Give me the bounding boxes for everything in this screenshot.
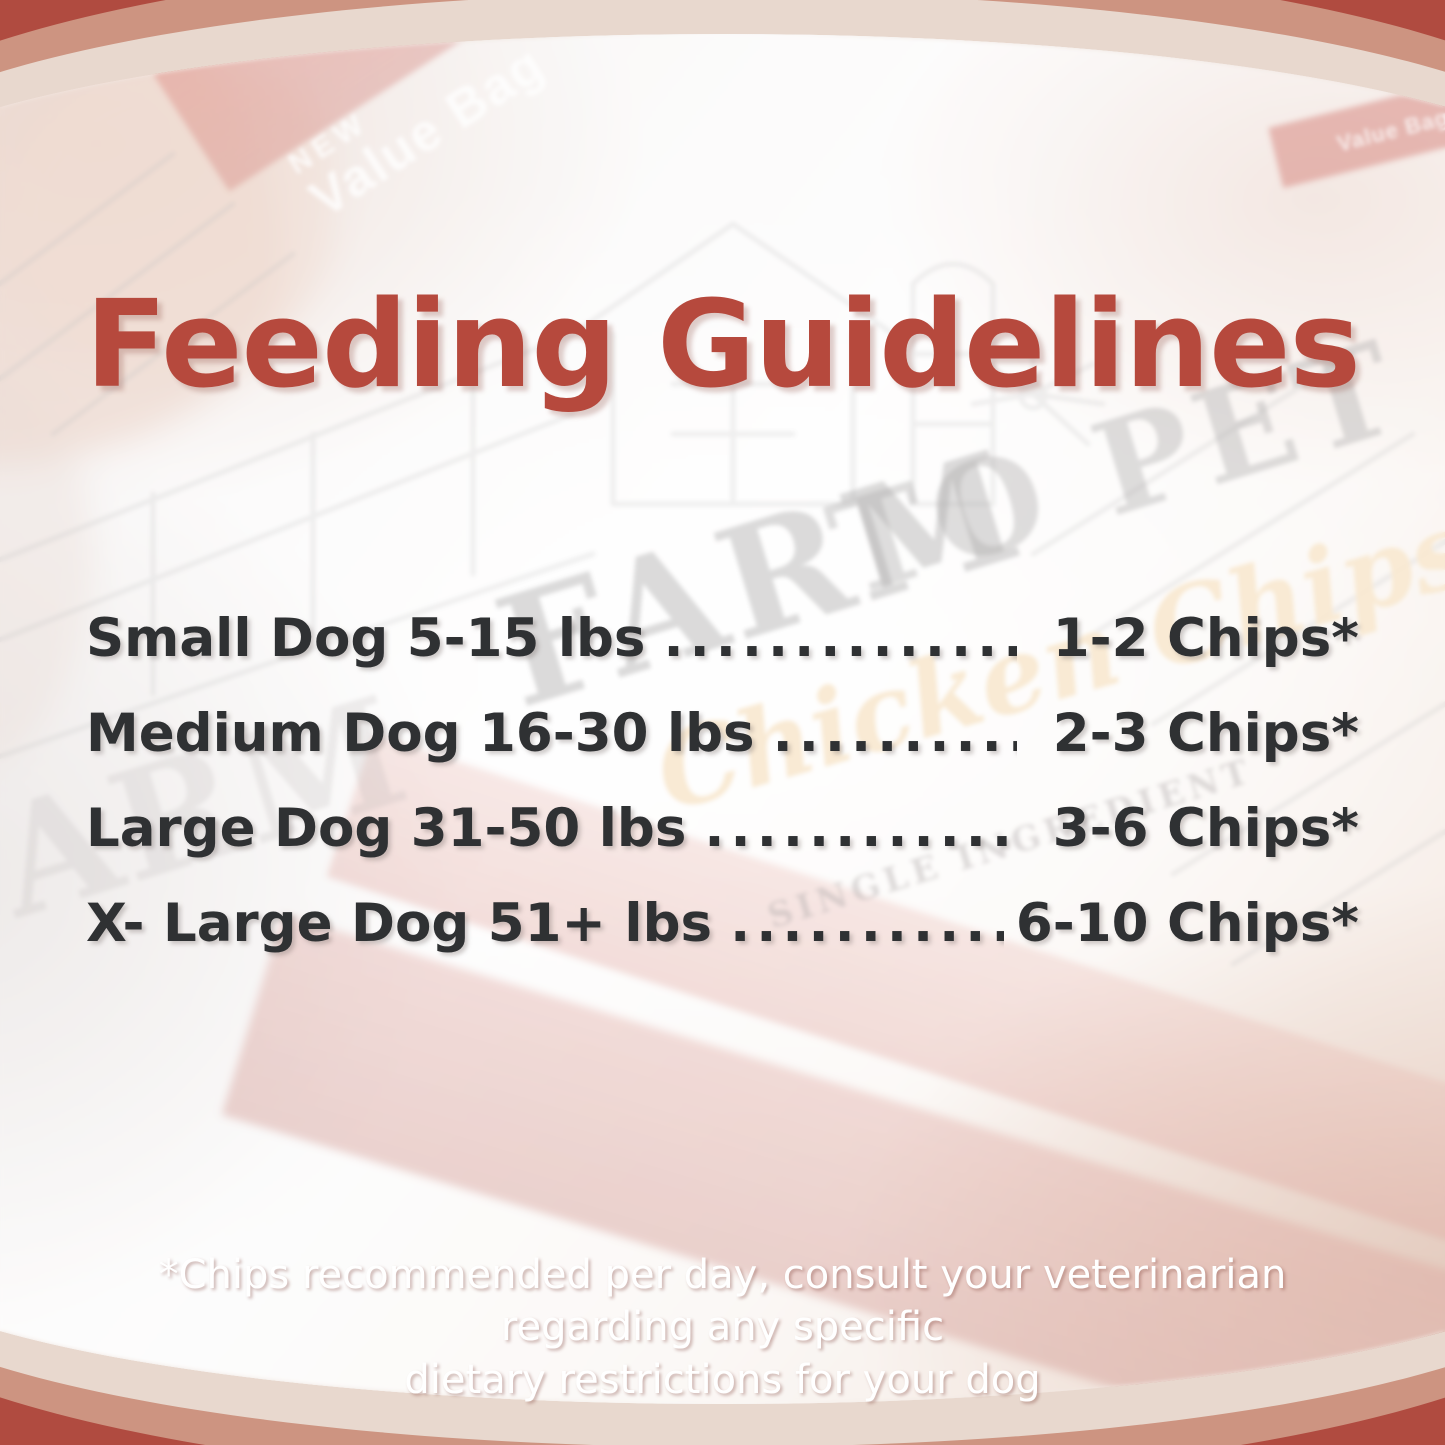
row-value-medium-dog: 2-3 Chips* <box>1029 703 1359 764</box>
poster-content: Feeding Guidelines Small Dog 5-15 lbs ..… <box>0 0 1445 1445</box>
footer-line-2: dietary restrictions for your dog <box>60 1354 1385 1407</box>
row-label-large-dog: Large Dog 31-50 lbs <box>86 798 686 859</box>
row-leader-dots: .................. <box>704 798 1017 859</box>
feeding-table: Small Dog 5-15 lbs .................... … <box>86 608 1359 988</box>
feeding-guidelines-poster: NEW Value Bag Value Bag <box>0 0 1445 1445</box>
row-value-xlarge-dog: 6-10 Chips* <box>1016 893 1359 954</box>
row-label-xlarge-dog: X- Large Dog 51+ lbs <box>86 893 712 954</box>
footer-disclaimer: *Chips recommended per day, consult your… <box>0 1249 1445 1407</box>
row-leader-dots: .............. <box>773 703 1017 764</box>
row-leader-dots: .................... <box>663 608 1017 669</box>
table-row: Small Dog 5-15 lbs .................... … <box>86 608 1359 703</box>
row-leader-dots: ................. <box>730 893 1004 954</box>
row-value-small-dog: 1-2 Chips* <box>1029 608 1359 669</box>
table-row: Medium Dog 16-30 lbs .............. 2-3 … <box>86 703 1359 798</box>
row-label-medium-dog: Medium Dog 16-30 lbs <box>86 703 755 764</box>
page-title: Feeding Guidelines <box>0 276 1445 415</box>
table-row: Large Dog 31-50 lbs .................. 3… <box>86 798 1359 893</box>
row-label-small-dog: Small Dog 5-15 lbs <box>86 608 645 669</box>
footer-line-1: *Chips recommended per day, consult your… <box>60 1249 1385 1355</box>
table-row: X- Large Dog 51+ lbs ................. 6… <box>86 893 1359 988</box>
row-value-large-dog: 3-6 Chips* <box>1029 798 1359 859</box>
